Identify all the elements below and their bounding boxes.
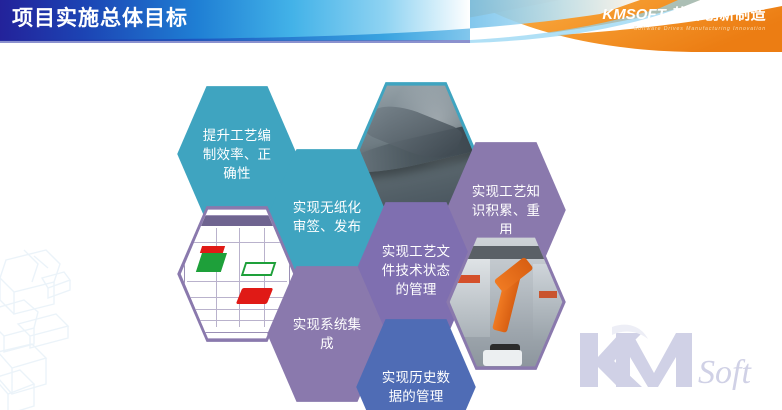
- hex-improve-efficiency-label: 提升工艺编制效率、正确性: [198, 126, 276, 183]
- hexagon-cluster: 提升工艺编制效率、正确性 实现无纸化审签、发布 实现工艺知识积累、重用: [0, 52, 782, 410]
- hex-history-data-mgmt-label: 实现历史数据的管理: [377, 368, 455, 406]
- brand-tagline: Software Drives Manufacturing Innovation: [602, 25, 766, 33]
- hex-knowledge-reuse-label: 实现工艺知识积累、重用: [467, 182, 545, 239]
- hex-paperless-approval-label: 实现无纸化审签、发布: [288, 198, 366, 236]
- hex-tech-state-mgmt-label: 实现工艺文件技术状态的管理: [377, 242, 455, 299]
- page-title: 项目实施总体目标: [12, 5, 188, 33]
- slide-header: 项目实施总体目标 KMSOFT, 软件创新制造 Software Drives …: [0, 0, 782, 52]
- presentation-slide: 项目实施总体目标 KMSOFT, 软件创新制造 Software Drives …: [0, 0, 782, 410]
- brand-logo: KMSOFT, 软件创新制造 Software Drives Manufactu…: [602, 6, 766, 33]
- brand-name-line: KMSOFT, 软件创新制造: [602, 6, 766, 24]
- brand-name-cn: 软件创新制造: [673, 6, 766, 23]
- brand-name-en: KMSOFT,: [602, 6, 668, 23]
- hex-system-integration-label: 实现系统集成: [288, 315, 366, 353]
